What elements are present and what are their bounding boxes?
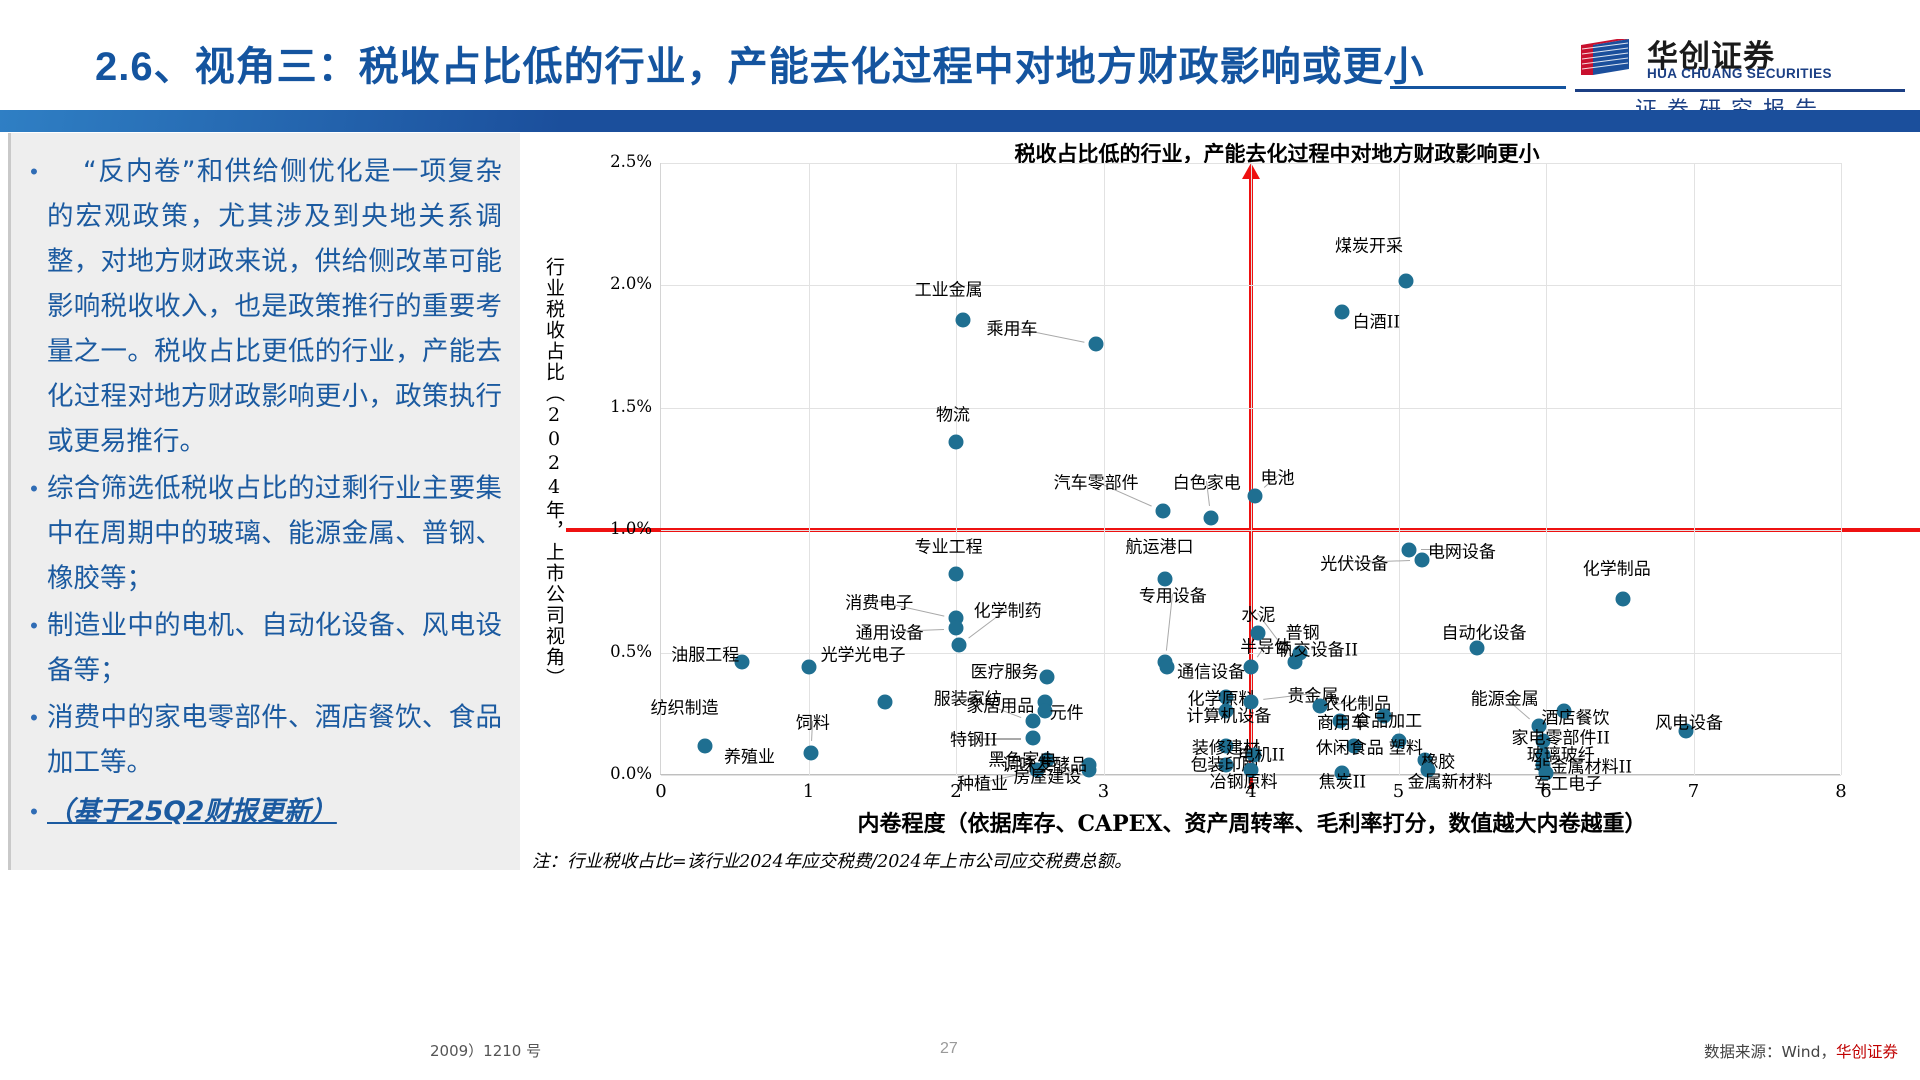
x-axis-tick-label: 1 (789, 781, 829, 802)
data-point-label: 消费电子 (845, 589, 913, 614)
slide-header: 2.6、视角三：税收占比低的行业，产能去化过程中对地方财政影响或更小 华创证券 … (0, 0, 1920, 128)
data-point[interactable] (1204, 510, 1219, 525)
data-point[interactable] (1248, 488, 1263, 503)
data-point[interactable] (1089, 337, 1104, 352)
data-point-label: 电网设备 (1428, 537, 1496, 562)
data-point-label: 光伏设备 (1320, 550, 1388, 575)
data-point[interactable] (804, 745, 819, 760)
data-point-label: 化学制药 (974, 596, 1042, 621)
grid-line-horizontal (661, 530, 1841, 531)
data-point-label: 油服工程 (671, 640, 739, 665)
chart-note: 注：行业税收占比=该行业2024年应交税费/2024年上市公司应交税费总额。 (532, 848, 1132, 873)
data-point[interactable] (956, 312, 971, 327)
data-point[interactable] (951, 638, 966, 653)
data-point-label: 纺织制造 (651, 694, 719, 719)
footer-source-brand: 华创证券 (1836, 1043, 1898, 1061)
grid-line-vertical (1694, 163, 1695, 775)
data-point-label: 养殖业 (724, 743, 775, 768)
x-axis-tick-label: 3 (1084, 781, 1124, 802)
x-axis-tick-label: 7 (1674, 781, 1714, 802)
data-point-label: 通信设备 (1177, 657, 1245, 682)
list-item: • 消费中的家电零部件、酒店餐饮、食品加工等。 (21, 695, 502, 785)
chart-x-axis-label: 内卷程度（依据库存、CAPEX、资产周转率、毛利率打分，数值越大内卷越重） (637, 806, 1867, 838)
data-point[interactable] (949, 567, 964, 582)
y-axis-tick-label: 0.0% (582, 764, 652, 783)
bullet-text: 综合筛选低税收占比的过剩行业主要集中在周期中的玻璃、能源金属、普钢、橡胶等； (47, 466, 502, 601)
bullet-icon: • (21, 603, 47, 693)
data-point[interactable] (1398, 273, 1413, 288)
data-point-label: 物流 (936, 400, 970, 425)
bullet-text: 消费中的家电零部件、酒店餐饮、食品加工等。 (47, 695, 502, 785)
bullet-text: “反内卷”和供给侧优化是一项复杂的宏观政策，尤其涉及到央地关系调整，对地方财政来… (47, 149, 502, 464)
data-point[interactable] (1251, 626, 1266, 641)
grid-line-horizontal (661, 285, 1841, 286)
data-point[interactable] (1040, 670, 1055, 685)
bullet-icon: • (21, 695, 47, 785)
data-point-label: 焦炭II (1319, 767, 1366, 792)
data-point-label: 元件 (1050, 699, 1084, 724)
data-point[interactable] (1159, 660, 1174, 675)
chart-y-axis-label: 行业税收占比（2024年，上市公司视角） (535, 193, 565, 753)
data-point-label: 塑料 (1389, 733, 1423, 758)
data-point-label: 风电设备 (1655, 709, 1723, 734)
data-point[interactable] (1244, 694, 1259, 709)
grid-line-vertical (1546, 163, 1547, 775)
data-point-label: 工业金属 (915, 275, 983, 300)
list-item: • 综合筛选低税收占比的过剩行业主要集中在周期中的玻璃、能源金属、普钢、橡胶等； (21, 466, 502, 601)
footer-source-prefix: 数据来源：Wind， (1704, 1043, 1836, 1061)
page-number: 27 (940, 1040, 958, 1058)
y-axis-tick-label: 0.5% (582, 642, 652, 661)
data-point-label: 水泥 (1241, 601, 1275, 626)
data-point-label: 军工电子 (1534, 770, 1602, 795)
data-point[interactable] (878, 694, 893, 709)
footer-source: 数据来源：Wind，华创证券 (1704, 1040, 1898, 1062)
list-item: • “反内卷”和供给侧优化是一项复杂的宏观政策，尤其涉及到央地关系调整，对地方财… (21, 149, 502, 464)
data-point-label: 家居用品 (966, 692, 1034, 717)
x-axis-tick-label: 0 (641, 781, 681, 802)
bullet-text: 制造业中的电机、自动化设备、风电设备等； (47, 603, 502, 693)
scatter-chart: 税收占比低的行业，产能去化过程中对地方财政影响更小 行业税收占比（2024年，上… (527, 133, 1912, 878)
list-item: • 制造业中的电机、自动化设备、风电设备等； (21, 603, 502, 693)
data-point-label: 白酒II (1353, 307, 1400, 332)
grid-line-vertical (809, 163, 810, 775)
data-point-label: 汽车零部件 (1054, 469, 1139, 494)
grid-line-horizontal (661, 163, 1841, 164)
data-point-label: 乘用车 (987, 315, 1038, 340)
data-point-label: 光学光电子 (821, 640, 906, 665)
data-point-label: 调味发酵品 (1002, 750, 1087, 775)
data-point-label: 航运港口 (1126, 532, 1194, 557)
plot-area: 0123456780.0%0.5%1.0%1.5%2.0%2.5%纺织制造养殖业… (660, 163, 1840, 775)
data-point-label: 休闲食品 (1316, 733, 1384, 758)
data-point-label: 种植业 (957, 770, 1008, 795)
y-axis-tick-label: 2.0% (582, 274, 652, 293)
data-point-label: 化学制品 (1583, 554, 1651, 579)
bullet-icon: • (21, 466, 47, 601)
data-point[interactable] (1401, 542, 1416, 557)
grid-line-horizontal (661, 408, 1841, 409)
y-axis-tick-label: 1.0% (582, 519, 652, 538)
list-item-highlight: • （基于25Q2财报更新） (21, 789, 502, 835)
y-axis-tick-label: 2.5% (582, 152, 652, 171)
data-point-label: 金属新材料 (1408, 767, 1493, 792)
data-point[interactable] (1615, 591, 1630, 606)
header-band-gradient (0, 110, 560, 132)
y-axis-tick-label: 1.5% (582, 397, 652, 416)
title-underline (1390, 86, 1566, 89)
data-point[interactable] (1335, 305, 1350, 320)
sidebar-text-panel: • “反内卷”和供给侧优化是一项复杂的宏观政策，尤其涉及到央地关系调整，对地方财… (8, 133, 520, 870)
footer-license: 2009）1210 号 (430, 1040, 541, 1061)
data-point-label: 煤炭开采 (1335, 231, 1403, 256)
data-point[interactable] (698, 738, 713, 753)
company-logo: 华创证券 HUA CHUANG SECURITIES 证券研究报告 (1575, 33, 1905, 119)
data-point-label: 专用设备 (1139, 581, 1207, 606)
grid-line-vertical (1841, 163, 1842, 775)
data-point-label: 计算机设备 (1186, 701, 1271, 726)
data-point-label: 电机II (1238, 740, 1285, 765)
x-axis-tick-label: 8 (1821, 781, 1861, 802)
data-point[interactable] (1244, 660, 1259, 675)
bullet-icon: • (21, 789, 47, 835)
data-point-label: 白色家电 (1173, 469, 1241, 494)
data-point[interactable] (1025, 731, 1040, 746)
data-point-label: 轨交设备II (1277, 635, 1358, 660)
data-point-label: 酒店餐饮 (1542, 704, 1610, 729)
data-point[interactable] (801, 660, 816, 675)
data-point[interactable] (1155, 503, 1170, 518)
data-point-label: 专业工程 (915, 532, 983, 557)
logo-text-en: HUA CHUANG SECURITIES (1647, 66, 1832, 81)
page-title: 2.6、视角三：税收占比低的行业，产能去化过程中对地方财政影响或更小 (95, 34, 1385, 92)
data-point[interactable] (949, 621, 964, 636)
bullet-icon: • (21, 149, 47, 464)
data-point-label: 冶钢原料 (1210, 767, 1278, 792)
data-point-label: 医疗服务 (971, 657, 1039, 682)
data-point[interactable] (949, 435, 964, 450)
data-point-label: 能源金属 (1471, 684, 1539, 709)
logo-mark-icon (1575, 37, 1637, 81)
data-point-label: 饲料 (796, 709, 830, 734)
data-point-label: 电池 (1261, 464, 1295, 489)
data-point-label: 自动化设备 (1442, 618, 1527, 643)
data-point-label: 食品加工 (1354, 706, 1422, 731)
bullet-text: （基于25Q2财报更新） (47, 789, 502, 835)
data-point-label: 通用设备 (856, 618, 924, 643)
